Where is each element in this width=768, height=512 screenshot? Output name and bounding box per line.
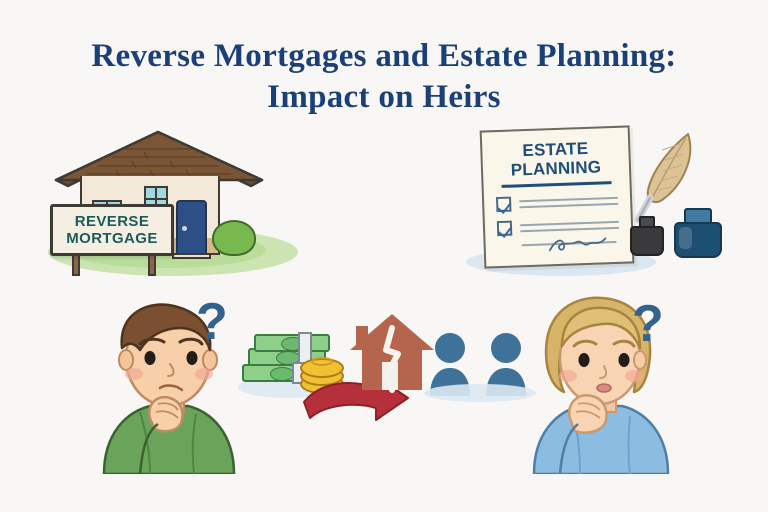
cash-bundle [254, 334, 330, 352]
checklist-row [496, 192, 618, 212]
document-underline [502, 181, 612, 187]
bush [212, 220, 256, 256]
sign-text-line-1: REVERSE [75, 213, 150, 230]
infographic-canvas: Reverse Mortgages and Estate Planning: I… [0, 0, 768, 512]
cracked-house-icon [348, 310, 436, 396]
checkbox-checked-icon [497, 221, 513, 237]
question-mark-left: ? [196, 296, 228, 348]
checkbox-checked-icon [496, 197, 512, 213]
front-door [176, 200, 207, 255]
house-illustration: REVERSE MORTGAGE [36, 128, 326, 288]
ink-bottle [674, 208, 722, 258]
estate-planning-illustration: ESTATE PLANNING [452, 124, 732, 288]
estate-planning-paper: ESTATE PLANNING [480, 125, 635, 268]
reverse-mortgage-sign: REVERSE MORTGAGE [50, 204, 174, 256]
sign-text-line-2: MORTGAGE [66, 230, 158, 247]
checklist-lines [519, 192, 618, 211]
signature-icon [547, 232, 610, 256]
door-step [172, 253, 211, 259]
document-title-line-2: PLANNING [495, 157, 618, 180]
inkwell [630, 216, 664, 256]
title-line-1: Reverse Mortgages and Estate Planning: [0, 36, 768, 76]
title-line-2: Impact on Heirs [0, 76, 768, 118]
thinking-man-illustration: ? [88, 292, 248, 474]
thinking-woman-illustration: ? [520, 292, 680, 474]
door-knob [182, 226, 187, 231]
question-mark-right: ? [632, 298, 664, 350]
page-title: Reverse Mortgages and Estate Planning: I… [0, 36, 768, 118]
